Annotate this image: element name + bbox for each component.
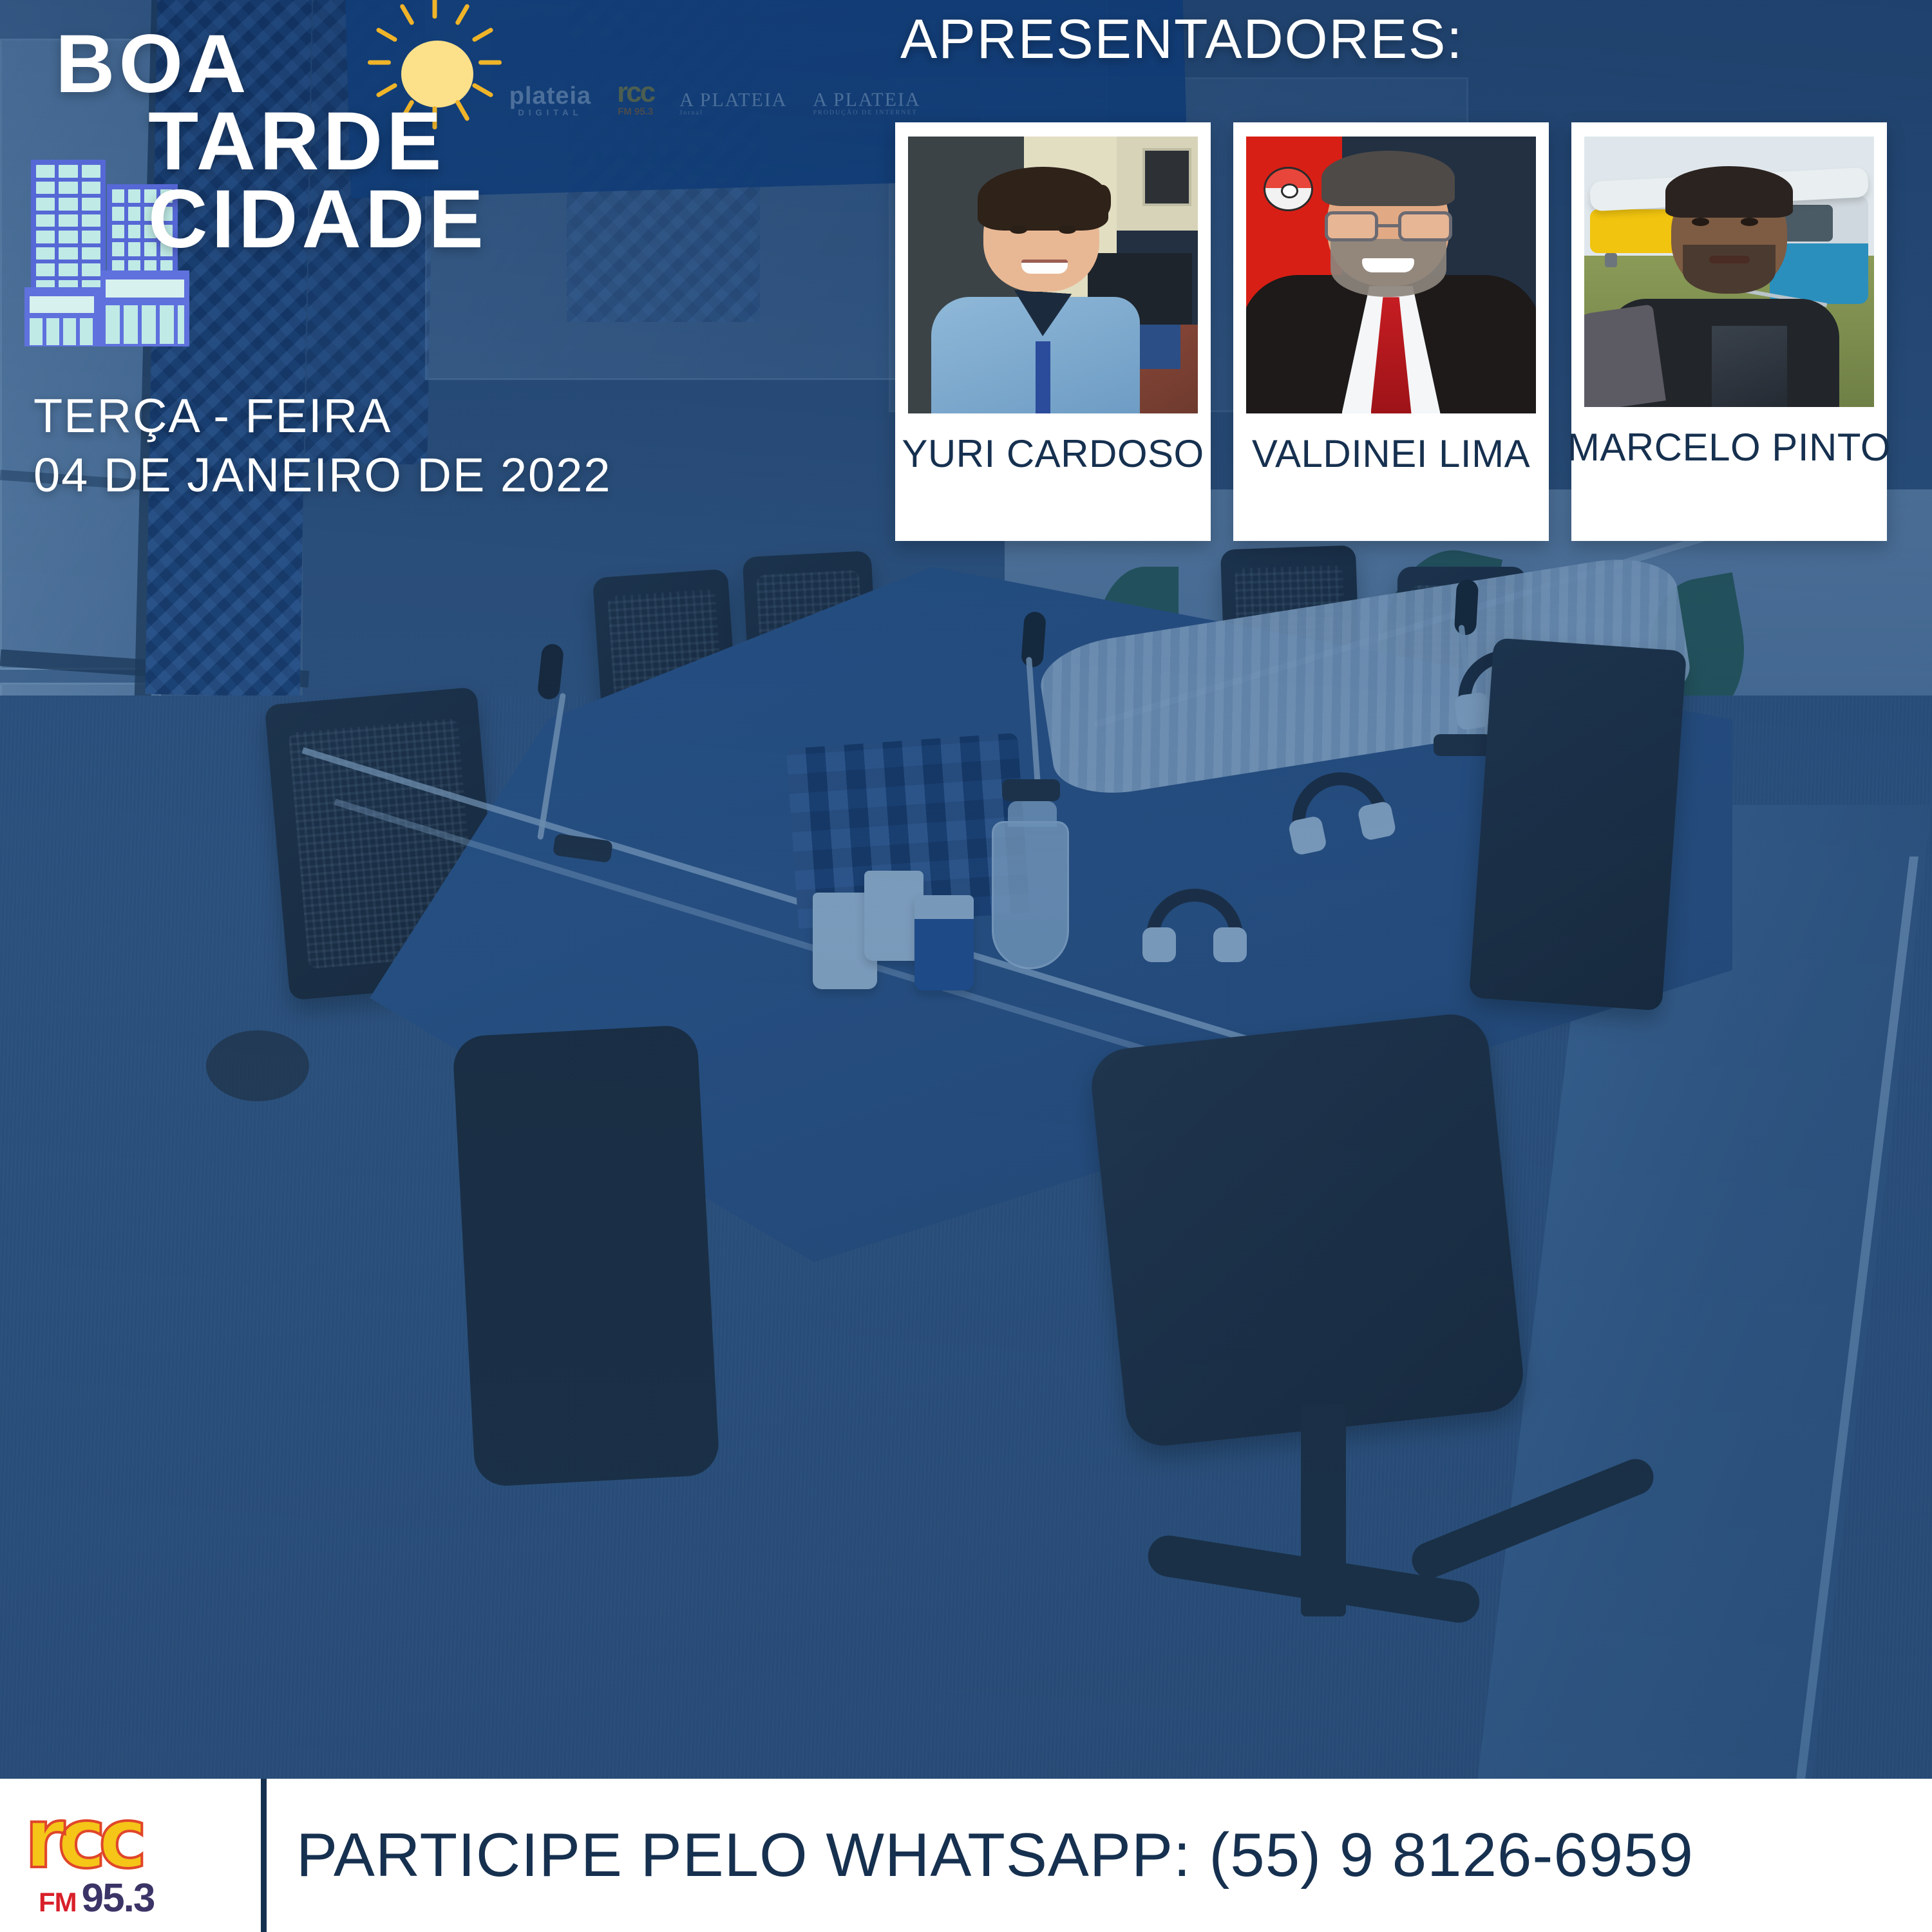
program-title-line1: BOA bbox=[55, 26, 831, 103]
presenter-name: YURI CARDOSO bbox=[902, 413, 1204, 498]
presenter-photo-marcelo-pinto bbox=[1584, 137, 1874, 407]
footer-bar: rcc FM 95.3 PARTICIPE PELO WHATSAPP: (55… bbox=[0, 1779, 1932, 1932]
storefront-windows bbox=[30, 318, 94, 345]
presenter-card-marcelo-pinto[interactable]: MARCELO PINTO bbox=[1571, 122, 1887, 541]
presenters-heading: APRESENTADORES: bbox=[900, 8, 1931, 71]
storefront-glass bbox=[30, 296, 94, 313]
weekday-label: TERÇA - FEIRA bbox=[33, 386, 611, 446]
presenter-photo-valdinei-lima bbox=[1246, 137, 1536, 413]
storefront-glass bbox=[106, 279, 184, 298]
sun-ray bbox=[455, 3, 470, 26]
footer-divider bbox=[261, 1779, 267, 1932]
broadcast-date-block: TERÇA - FEIRA 04 DE JANEIRO DE 2022 bbox=[33, 386, 611, 505]
sun-ray bbox=[399, 3, 415, 26]
rcc-frequency: 95.3 bbox=[82, 1875, 155, 1921]
storefront-windows bbox=[106, 305, 184, 344]
rcc-fm-label: FM bbox=[39, 1887, 77, 1918]
program-title-line2: TARDE bbox=[148, 103, 831, 180]
station-logo-area[interactable]: rcc FM 95.3 bbox=[0, 1779, 261, 1932]
full-date-label: 04 DE JANEIRO DE 2022 bbox=[33, 446, 611, 505]
presenter-name: MARCELO PINTO bbox=[1567, 407, 1891, 491]
presenter-photo-yuri-cardoso bbox=[908, 137, 1198, 413]
program-title-line3: CIDADE bbox=[148, 181, 831, 258]
presenter-card-yuri-cardoso[interactable]: YURI CARDOSO bbox=[895, 122, 1211, 541]
rcc-wordmark: rcc bbox=[24, 1807, 237, 1871]
program-logo-block: BOA TARDE CIDADE bbox=[39, 26, 831, 258]
poster-canvas: plateiaDIGITAL rccFM 95.3 A PLATEIAJorna… bbox=[0, 0, 1932, 1932]
sun-ray bbox=[433, 0, 437, 19]
presenter-card-list: YURI CARDOSO VALDINEI LIMA bbox=[895, 122, 1932, 541]
presenter-name: VALDINEI LIMA bbox=[1252, 413, 1530, 498]
presenter-card-valdinei-lima[interactable]: VALDINEI LIMA bbox=[1233, 122, 1549, 541]
whatsapp-call-to-action: PARTICIPE PELO WHATSAPP: (55) 9 8126-695… bbox=[267, 1820, 1694, 1891]
rcc-logo: rcc FM 95.3 bbox=[24, 1807, 237, 1921]
